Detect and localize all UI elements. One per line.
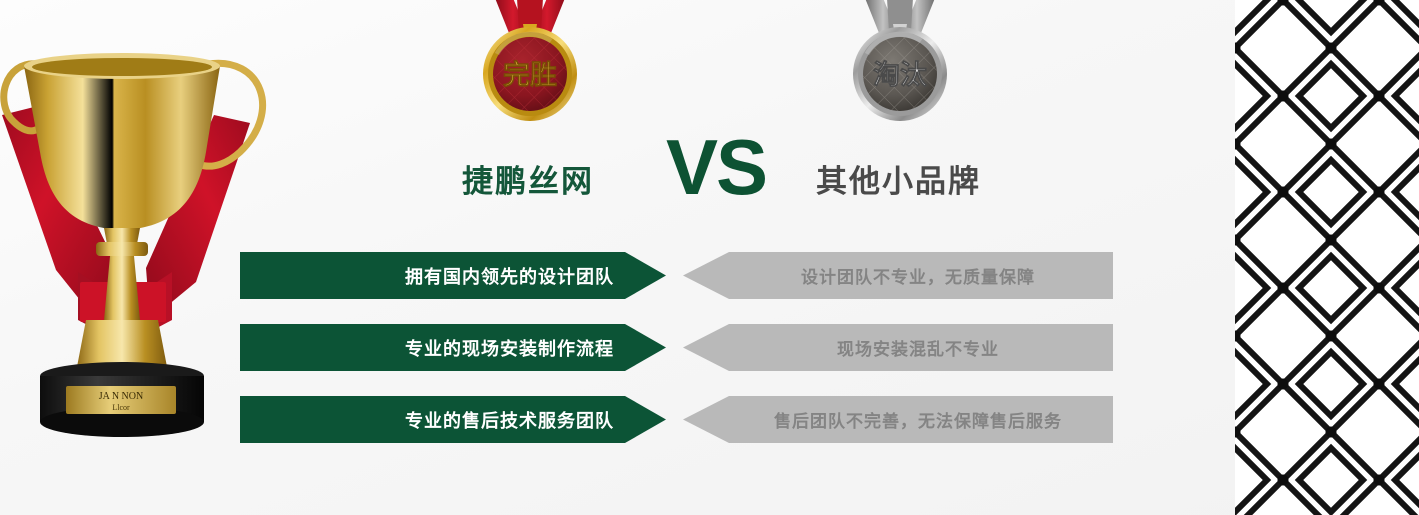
disadvantage-text: 售后团队不完善，无法保障售后服务: [774, 407, 1062, 432]
comparison-row: 拥有国内领先的设计团队 设计团队不专业，无质量保障: [240, 252, 1120, 299]
disadvantage-bar: 现场安装混乱不专业: [683, 324, 1113, 371]
disadvantage-bar: 售后团队不完善，无法保障售后服务: [683, 396, 1113, 443]
advantage-text: 专业的现场安装制作流程: [405, 335, 614, 361]
comparison-row: 专业的售后技术服务团队 售后团队不完善，无法保障售后服务: [240, 396, 1120, 443]
plaque-line-2: Llcor: [112, 403, 130, 412]
versus-label: VS: [666, 128, 766, 206]
advantage-bar: 专业的现场安装制作流程: [240, 324, 666, 371]
advantage-text: 拥有国内领先的设计团队: [405, 263, 614, 289]
disadvantage-text: 设计团队不专业，无质量保障: [801, 263, 1035, 288]
advantage-bar: 专业的售后技术服务团队: [240, 396, 666, 443]
gold-medal-label: 完胜: [503, 59, 557, 90]
silver-medal-label: 淘汰: [873, 60, 927, 90]
disadvantage-bar: 设计团队不专业，无质量保障: [683, 252, 1113, 299]
disadvantage-text: 现场安装混乱不专业: [837, 335, 999, 360]
advantage-bar: 拥有国内领先的设计团队: [240, 252, 666, 299]
advantage-text: 专业的售后技术服务团队: [405, 407, 614, 433]
plaque-line-1: JA N NON: [99, 391, 143, 402]
comparison-row: 专业的现场安装制作流程 现场安装混乱不专业: [240, 324, 1120, 371]
competitor-name-label: 其他小品牌: [816, 156, 981, 201]
gold-medal: 完胜: [455, 0, 605, 128]
chain-link-fence-image: [1235, 0, 1419, 515]
silver-medal: 淘汰: [825, 0, 975, 128]
comparison-table: 拥有国内领先的设计团队 设计团队不专业，无质量保障 专业的现场安装制作流程 现场…: [240, 252, 1120, 443]
promo-comparison-banner: JA N NON Llcor: [0, 0, 1419, 515]
brand-name-label: 捷鹏丝网: [462, 156, 594, 201]
